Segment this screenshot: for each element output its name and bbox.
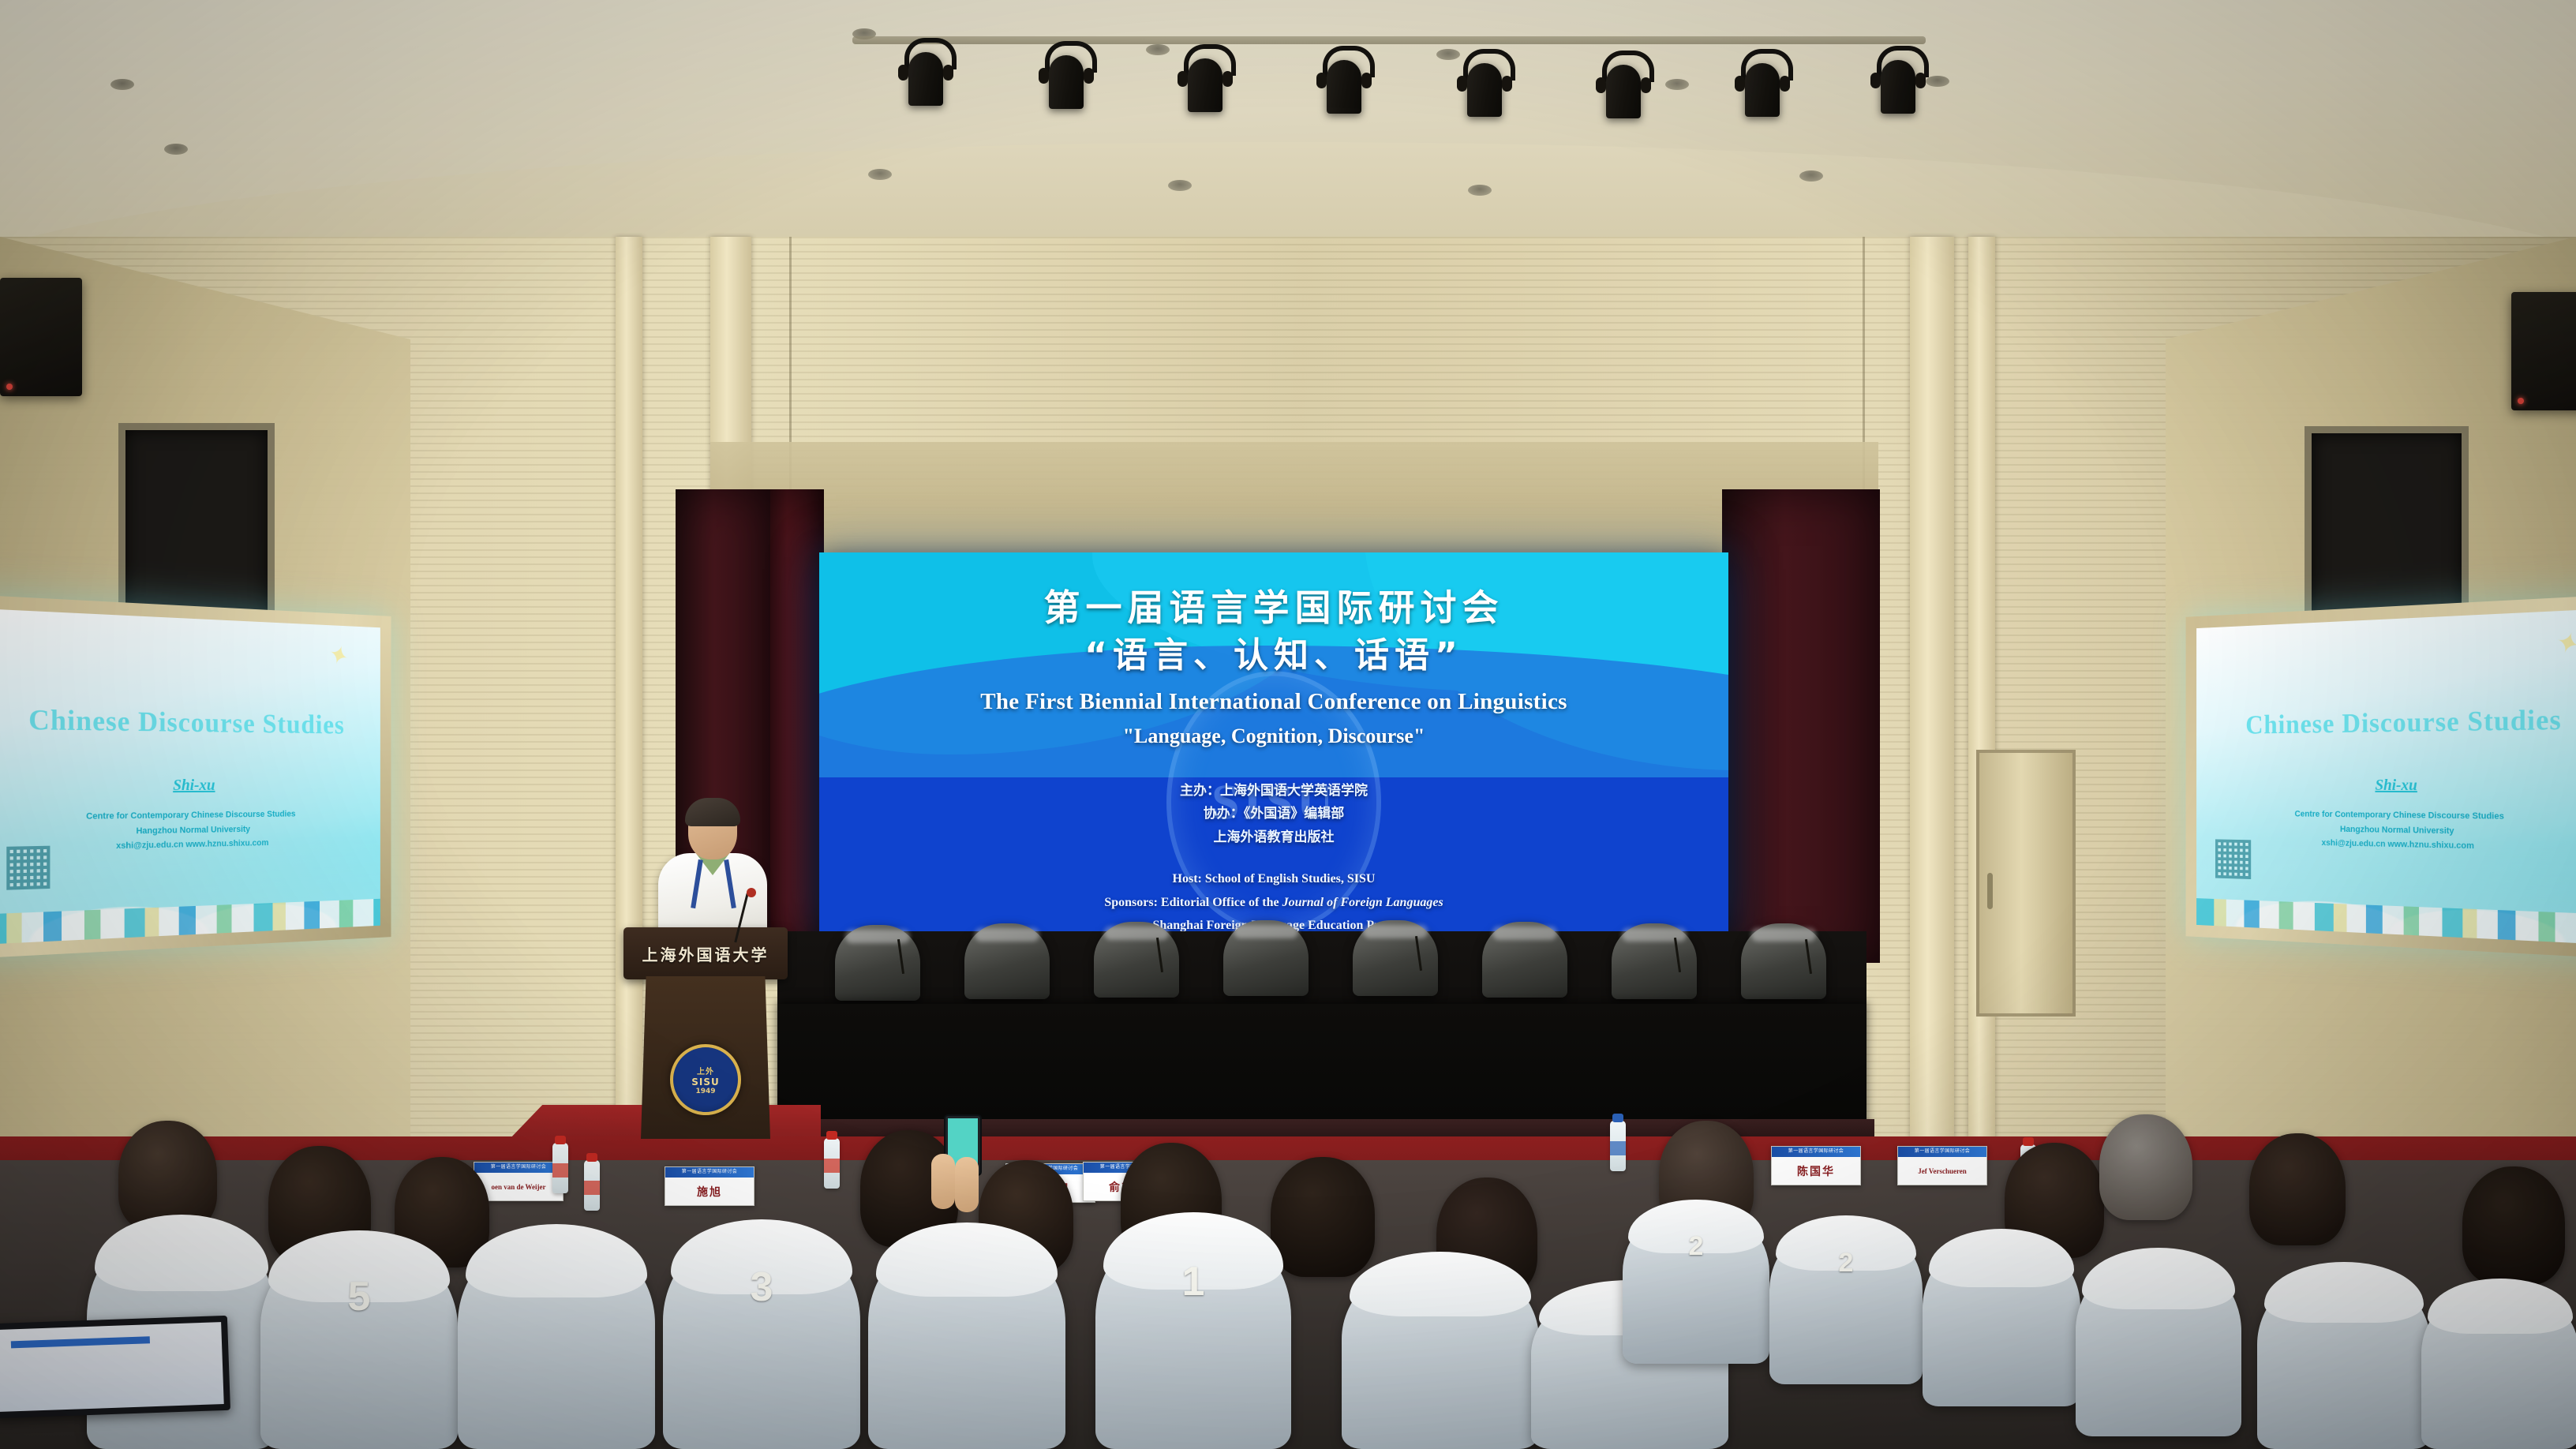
audience-seat[interactable] — [868, 1231, 1065, 1449]
stage-chair — [1741, 923, 1826, 999]
screen-english-subtitle: "Language, Cognition, Discourse" — [1123, 724, 1425, 748]
stage-chair — [1612, 923, 1697, 999]
screen-chinese-subtitle: “语言、认知、话语” — [1084, 633, 1463, 678]
water-bottle — [552, 1143, 568, 1193]
side-screen-author: Shi-xu — [2196, 777, 2576, 796]
screen-sponsor-prefix: Sponsors: Editorial Office of the — [1104, 896, 1282, 909]
star-icon: ✦ — [2552, 624, 2576, 663]
placard-name: 施旭 — [665, 1178, 754, 1205]
placard-band: 第一届语言学国际研讨会 — [665, 1167, 754, 1178]
side-projection-screen-left: ✦ Chinese Discourse Studies Shi-xu Centr… — [0, 594, 391, 958]
screen-english-title: The First Biennial International Confere… — [980, 689, 1567, 715]
stage-chair — [1353, 920, 1438, 996]
audience-seat[interactable] — [2076, 1255, 2241, 1436]
placard-band: 第一届语言学国际研讨会 — [1772, 1147, 1860, 1157]
side-exit-door[interactable] — [1976, 750, 2076, 1017]
qr-code-icon — [2215, 839, 2251, 879]
lectern-institution-label: 上海外国语大学 — [642, 942, 769, 965]
placard-band: 第一届语言学国际研讨会 — [474, 1163, 563, 1173]
recessed-light — [868, 169, 892, 180]
speaker-person — [631, 801, 789, 943]
audience-seat[interactable]: 1 — [1095, 1222, 1291, 1449]
stage-chair — [1094, 922, 1179, 998]
recessed-light — [1665, 79, 1689, 90]
water-bottle — [584, 1160, 600, 1211]
laptop-screen-titlebar — [11, 1336, 150, 1348]
recessed-light — [1168, 180, 1192, 191]
screen-organizers-cn: 主办：上海外国语大学英语学院 协办：《外国语》编辑部 上海外语教育出版社 — [1180, 780, 1368, 850]
audience-head — [2099, 1114, 2192, 1220]
seat-number: 1 — [1095, 1258, 1291, 1305]
screen-chinese-title: 第一届语言学国际研讨会 — [1044, 586, 1504, 631]
stage-spotlight — [1181, 44, 1230, 112]
stage-chair — [1482, 922, 1567, 998]
name-placard: 第一届语言学国际研讨会 施旭 — [665, 1166, 754, 1206]
qr-code-icon — [6, 846, 50, 890]
audience-seat[interactable] — [2257, 1269, 2431, 1449]
lectern-microphone-head — [747, 888, 756, 897]
laptop-screen — [0, 1322, 224, 1412]
audience-head — [2462, 1166, 2565, 1285]
stage-spotlight — [1738, 49, 1787, 117]
screen-cohost-cn-2: 上海外语教育出版社 — [1180, 826, 1368, 850]
screen-cohost-cn-1: 协办：《外国语》编辑部 — [1180, 803, 1368, 826]
audience-seat[interactable] — [1342, 1260, 1539, 1449]
stage-chair — [835, 925, 920, 1001]
recessed-light — [1926, 76, 1949, 87]
name-placard: 第一届语言学国际研讨会 陈国华 — [1771, 1146, 1861, 1185]
audience-seat[interactable] — [2421, 1285, 2576, 1449]
recessed-light — [1146, 44, 1170, 55]
crest-chinese-label: 上外 — [697, 1065, 714, 1076]
seat-number: 3 — [663, 1264, 860, 1311]
stage-curtain-right — [1722, 489, 1880, 963]
stage-spotlight — [901, 38, 950, 106]
audience-seat[interactable]: 2 — [1769, 1222, 1923, 1384]
seat-number: 2 — [1769, 1248, 1923, 1279]
lectern-nameplate: 上海外国语大学 — [623, 927, 788, 979]
stage-chair — [1223, 920, 1309, 996]
wall-loudspeaker — [2511, 292, 2576, 410]
raised-hand — [955, 1157, 979, 1212]
audience-seat[interactable]: 3 — [663, 1228, 860, 1449]
screen-sponsor-journal: Journal of Foreign Languages — [1282, 896, 1443, 909]
recessed-light — [1436, 49, 1460, 60]
side-projection-screen-right: ✦ Chinese Discourse Studies Shi-xu Centr… — [2186, 593, 2576, 960]
stage-chair — [964, 923, 1050, 999]
crest-year-label: 1949 — [695, 1088, 715, 1095]
crest-english-label: SISU — [691, 1076, 720, 1088]
seat-number: 5 — [260, 1273, 458, 1320]
speaker-hair — [685, 798, 740, 826]
audience-seat[interactable] — [458, 1233, 655, 1449]
wall-pilaster — [1910, 237, 1954, 1144]
recessed-light — [110, 79, 134, 90]
water-bottle — [1610, 1121, 1626, 1171]
water-bottle — [824, 1138, 840, 1189]
screen-sponsor-en-1: Sponsors: Editorial Office of the Journa… — [1104, 891, 1443, 915]
wall-loudspeaker — [0, 278, 82, 396]
placard-name: 陈国华 — [1772, 1157, 1860, 1185]
side-screen-title: Chinese Discourse Studies — [2196, 702, 2576, 741]
lighting-track — [852, 36, 1926, 44]
seat-number: 2 — [1623, 1231, 1769, 1262]
placard-band: 第一届语言学国际研讨会 — [1898, 1147, 1986, 1157]
audience-seat[interactable]: 5 — [260, 1239, 458, 1449]
audience-laptop[interactable] — [0, 1316, 230, 1418]
recessed-light — [1468, 185, 1492, 196]
proscenium-valance — [710, 442, 1878, 552]
stage-spotlight — [1460, 49, 1509, 117]
stage-spotlight — [1599, 51, 1648, 118]
door-handle-icon — [1987, 873, 1993, 909]
main-projection-screen: SISU 第一届语言学国际研讨会 “语言、认知、话语” The First Bi… — [819, 552, 1728, 941]
side-screen-author: Shi-xu — [0, 777, 380, 796]
raised-hand — [931, 1154, 955, 1209]
auditorium-scene: SISU 第一届语言学国际研讨会 “语言、认知、话语” The First Bi… — [0, 0, 2576, 1449]
recessed-light — [1799, 170, 1823, 182]
side-screen-title: Chinese Discourse Studies — [0, 702, 380, 740]
screen-text-block: 第一届语言学国际研讨会 “语言、认知、话语” The First Biennia… — [819, 552, 1728, 941]
screen-host-cn: 主办：上海外国语大学英语学院 — [1180, 780, 1368, 803]
stage-spotlight — [1320, 46, 1368, 114]
star-icon: ✦ — [324, 638, 352, 673]
placard-name: Jef Verschueren — [1898, 1157, 1986, 1185]
audience-seat[interactable] — [1923, 1236, 2080, 1406]
screen-host-en: Host: School of English Studies, SISU — [1104, 867, 1443, 891]
stage-spotlight — [1042, 41, 1091, 109]
stage-spotlight — [1874, 46, 1923, 114]
power-led-icon — [2518, 398, 2524, 404]
audience-head — [2249, 1133, 2346, 1245]
audience-seat[interactable]: 2 — [1623, 1206, 1769, 1364]
lectern: 上海外国语大学 上外 SISU 1949 — [623, 927, 788, 1139]
recessed-light — [164, 144, 188, 155]
sisu-crest-logo: 上外 SISU 1949 — [670, 1044, 741, 1115]
name-placard: 第一届语言学国际研讨会 Jef Verschueren — [1897, 1146, 1987, 1185]
power-led-icon — [6, 384, 13, 390]
lectern-body: 上外 SISU 1949 — [641, 976, 770, 1139]
